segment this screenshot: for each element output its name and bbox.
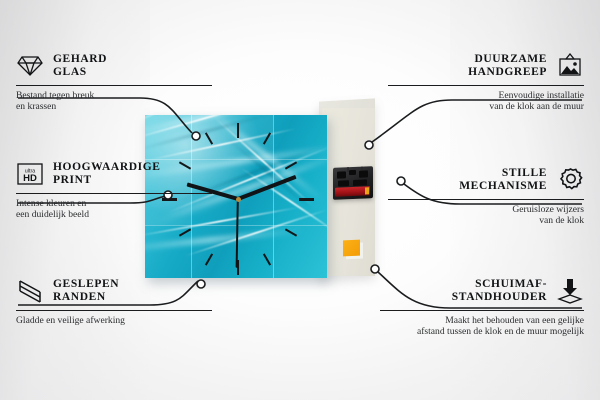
feature-divider	[16, 85, 212, 86]
feature-description: Geruisloze wijzers van de klok	[388, 204, 584, 227]
feature-geslepen-randen: GESLEPEN RANDEN Gladde en veilige afwerk…	[16, 277, 212, 326]
foam-spacer-pad	[343, 240, 360, 257]
feature-title: DUURZAME HANDGREEP	[468, 53, 547, 79]
battery-positive-tip	[365, 187, 369, 194]
feature-description: Gladde en veilige afwerking	[16, 315, 212, 326]
feature-stille-mechanisme: STILLE MECHANISME Geruisloze wijzers van…	[388, 166, 584, 227]
feature-hoogwaardige-print: ultra HD HOOGWAARDIGE PRINT Intense kleu…	[16, 160, 212, 221]
aa-battery	[335, 186, 370, 197]
quartz-clock-movement	[333, 166, 373, 200]
feature-divider	[388, 85, 584, 86]
feature-divider	[380, 310, 584, 311]
feature-divider	[16, 310, 212, 311]
feature-description: Maakt het behouden van een gelijke afsta…	[380, 315, 584, 338]
feature-header: DUURZAME HANDGREEP	[388, 52, 584, 80]
feature-header: SCHUIMAF- STANDHOUDER	[380, 277, 584, 305]
feature-header: STILLE MECHANISME	[388, 166, 584, 194]
feature-header: ultra HD HOOGWAARDIGE PRINT	[16, 160, 212, 188]
ultra-hd-icon: ultra HD	[16, 160, 44, 188]
feature-title: SCHUIMAF- STANDHOUDER	[452, 278, 547, 304]
feature-description: Intense kleuren en een duidelijk beeld	[16, 198, 212, 221]
feature-divider	[16, 193, 212, 194]
feature-schuimafstandhouder: SCHUIMAF- STANDHOUDER Maakt het behouden…	[380, 277, 584, 338]
gear-icon	[556, 166, 584, 194]
feature-title: GESLEPEN RANDEN	[53, 278, 119, 304]
feature-description: Bestand tegen breuk en krassen	[16, 90, 212, 113]
feature-divider	[388, 199, 584, 200]
feature-duurzame-handgreep: DUURZAME HANDGREEP Eenvoudige installati…	[388, 52, 584, 113]
diagonal-lines-icon	[16, 277, 44, 305]
feature-header: GEHARD GLAS	[16, 52, 212, 80]
feature-title: GEHARD GLAS	[53, 53, 107, 79]
feature-description: Eenvoudige installatie van de klok aan d…	[388, 90, 584, 113]
feature-header: GESLEPEN RANDEN	[16, 277, 212, 305]
feature-title: HOOGWAARDIGE PRINT	[53, 161, 161, 187]
arrow-down-pad-icon	[556, 277, 584, 305]
svg-text:HD: HD	[23, 173, 37, 184]
picture-frame-icon	[556, 52, 584, 80]
infographic-canvas: GEHARD GLAS Bestand tegen breuk en krass…	[0, 0, 600, 400]
feature-title: STILLE MECHANISME	[459, 167, 547, 193]
feature-gehard-glas: GEHARD GLAS Bestand tegen breuk en krass…	[16, 52, 212, 113]
diamond-icon	[16, 52, 44, 80]
